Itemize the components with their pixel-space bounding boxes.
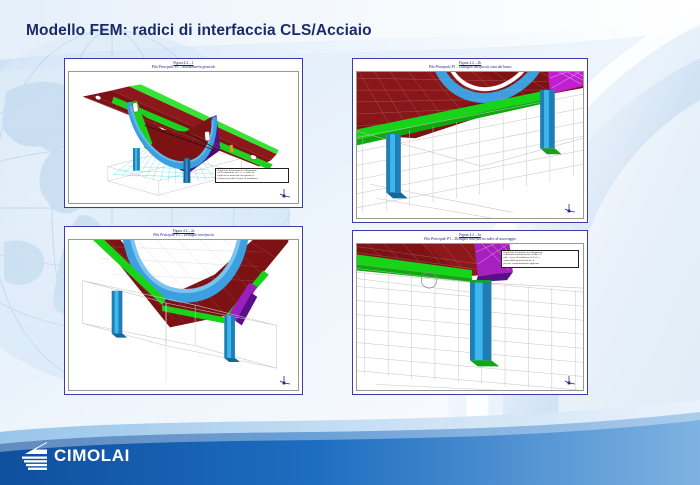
figure-viewport-bottom-right[interactable]: Rigid link: definizione di collegamento … <box>356 243 584 391</box>
figure-title: Pila Principale P1 – Dettaglio interfacc… <box>356 238 584 242</box>
axis-triad-icon <box>279 374 293 386</box>
fem-model-underside-view <box>357 72 583 218</box>
figure-panel-bottom-right[interactable]: Figura 4.2 – 3a Pila Principale P1 – Det… <box>352 230 588 395</box>
annotation-note-bottom-right: Rigid link: definizione di collegamento … <box>501 250 579 269</box>
figure-title: Pila Principale P1 – assonometria genera… <box>68 66 299 70</box>
figure-caption-top-right: Figura 4.2 – 2b Pila Principale P1 – Det… <box>356 61 584 71</box>
figure-panel-bottom-left[interactable]: Figura 4.2 – 2a Pila Principale P1 – Det… <box>64 226 303 395</box>
figure-panel-top-right[interactable]: Figura 4.2 – 2b Pila Principale P1 – Det… <box>352 58 588 223</box>
figure-caption-bottom-left: Figura 4.2 – 2a Pila Principale P1 – Det… <box>68 229 299 239</box>
fem-model-interface-detail <box>69 240 298 390</box>
annotation-note-top-left: Rigid link: definizione di collegamento … <box>215 168 289 184</box>
axis-triad-icon <box>279 187 293 199</box>
axis-triad-icon <box>564 202 578 214</box>
figure-viewport-top-left[interactable]: Rigid link: definizione di collegamento … <box>68 71 299 204</box>
figure-viewport-top-right[interactable] <box>356 71 584 219</box>
figure-caption-top-left: Figura 4.2 – 1 Pila Principale P1 – asso… <box>68 61 299 71</box>
figure-viewport-bottom-left[interactable] <box>68 239 299 391</box>
company-logo: CIMOLAI <box>16 441 130 471</box>
figure-title: Pila Principale P1 – Dettaglio interfacc… <box>68 234 299 238</box>
page-title: Modello FEM: radici di interfaccia CLS/A… <box>26 22 372 40</box>
figure-caption-bottom-right: Figura 4.2 – 3a Pila Principale P1 – Det… <box>356 233 584 243</box>
figure-panel-top-left[interactable]: Figura 4.2 – 1 Pila Principale P1 – asso… <box>64 58 303 208</box>
cimolai-chevron-logo-icon <box>16 441 50 471</box>
figure-grid: Figura 4.2 – 1 Pila Principale P1 – asso… <box>0 0 700 485</box>
axis-triad-icon <box>564 374 578 386</box>
company-name: CIMOLAI <box>54 446 130 466</box>
figure-title: Pila Principale P1 – Dettaglio interfacc… <box>356 66 584 70</box>
